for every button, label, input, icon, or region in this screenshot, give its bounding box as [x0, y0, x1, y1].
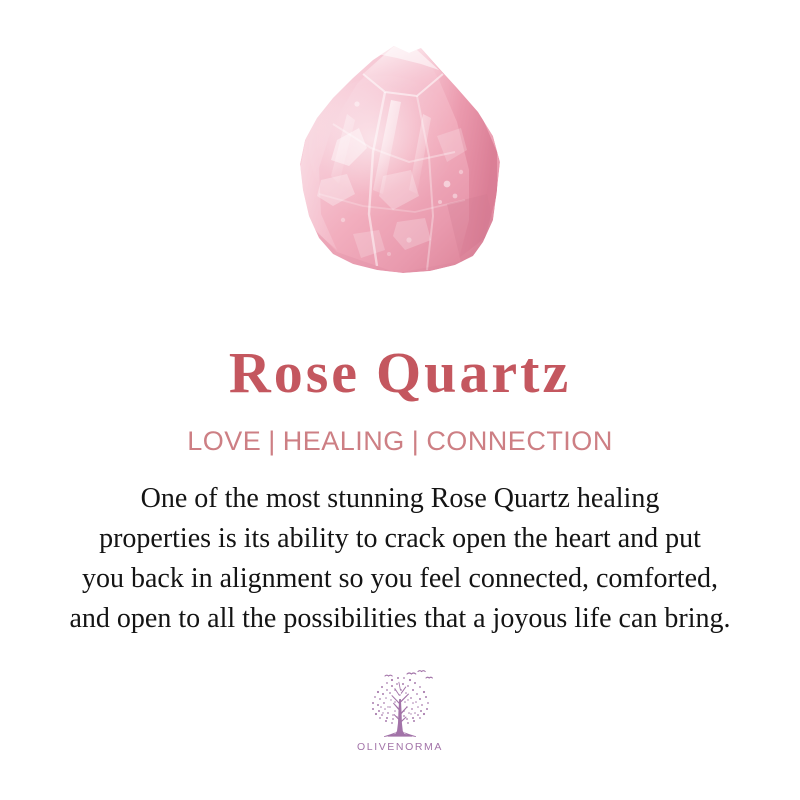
description-line-3: you back in alignment so you feel connec… — [20, 559, 780, 599]
description-line-1: One of the most stunning Rose Quartz hea… — [20, 479, 780, 519]
rose-quartz-info-card: RoseQuartz LOVE|HEALING|CONNECTION One o… — [0, 0, 800, 800]
page-title: RoseQuartz — [229, 344, 571, 402]
keyword-separator-2: | — [405, 426, 427, 456]
rose-quartz-crystal — [297, 44, 503, 276]
description-line-4: and open to all the possibilities that a… — [20, 599, 780, 639]
keyword-healing: HEALING — [283, 426, 405, 456]
keyword-separator-1: | — [261, 426, 283, 456]
keyword-line: LOVE|HEALING|CONNECTION — [187, 428, 613, 455]
brand-wordmark: OLIVENORMA — [357, 741, 443, 753]
description-line-2: properties is its ability to crack open … — [20, 519, 780, 559]
keyword-love: LOVE — [187, 426, 261, 456]
tree-of-life-icon — [362, 669, 438, 739]
brand-logo: OLIVENORMA — [357, 669, 443, 753]
title-word-two: Quartz — [376, 340, 571, 405]
keyword-connection: CONNECTION — [426, 426, 613, 456]
description-text: One of the most stunning Rose Quartz hea… — [20, 479, 780, 639]
title-word-one: Rose — [229, 340, 360, 405]
product-image-container — [0, 0, 800, 300]
